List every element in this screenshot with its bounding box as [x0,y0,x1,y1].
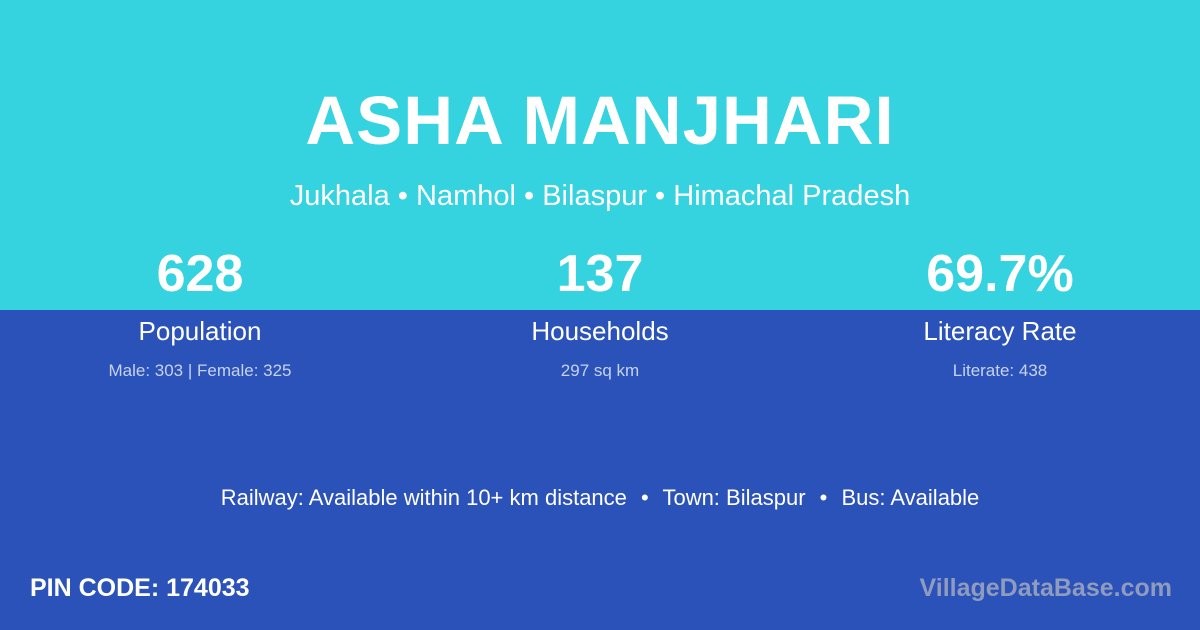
fact-separator-2: • [812,485,836,510]
stat-population-value: 628 [0,248,400,304]
stat-literacy-value: 69.7% [800,248,1200,304]
stat-population: 628 Population Male: 303 | Female: 325 [0,248,400,379]
page-title: ASHA MANJHARI [0,86,1200,155]
pin-code: PIN CODE: 174033 [30,576,250,601]
stat-population-sub: Male: 303 | Female: 325 [0,362,400,379]
site-brand: VillageDataBase.com [920,576,1172,601]
stat-households-value: 137 [400,248,800,304]
stat-literacy: 69.7% Literacy Rate Literate: 438 [800,248,1200,379]
fact-town: Town: Bilaspur [662,485,805,510]
location-breadcrumb: Jukhala • Namhol • Bilaspur • Himachal P… [0,182,1200,211]
stat-households-sub: 297 sq km [400,362,800,379]
stats-row: 628 Population Male: 303 | Female: 325 1… [0,248,1200,379]
facilities-line: Railway: Available within 10+ km distanc… [0,487,1200,509]
fact-bus: Bus: Available [841,485,979,510]
stat-literacy-sub: Literate: 438 [800,362,1200,379]
stat-population-label: Population [0,318,400,344]
stat-households-label: Households [400,318,800,344]
stat-households: 137 Households 297 sq km [400,248,800,379]
fact-separator-1: • [633,485,657,510]
village-info-card: ASHA MANJHARI Jukhala • Namhol • Bilaspu… [0,0,1200,630]
fact-railway: Railway: Available within 10+ km distanc… [221,485,627,510]
stat-literacy-label: Literacy Rate [800,318,1200,344]
